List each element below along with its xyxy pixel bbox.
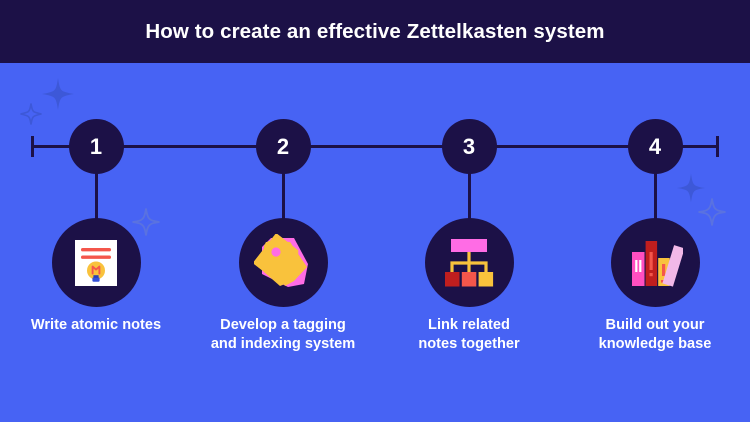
step-2-connector xyxy=(282,168,285,224)
step-4-caption-line-1: Build out your xyxy=(550,316,750,335)
sparkle-star-right-icon xyxy=(697,197,727,227)
step-1-number: 1 xyxy=(90,136,102,158)
sparkle-cross-right-icon xyxy=(675,172,707,204)
hierarchy-chart-icon xyxy=(441,236,497,290)
step-3-icon-circle[interactable] xyxy=(425,218,514,307)
step-3-number: 3 xyxy=(463,136,475,158)
infographic-canvas: How to create an effective Zettelkasten … xyxy=(0,0,750,422)
step-2-number: 2 xyxy=(277,136,289,158)
sparkle-cross-top-left-icon xyxy=(40,76,76,112)
step-4-caption-line-2: knowledge base xyxy=(550,335,750,354)
sparkle-outline-left-icon xyxy=(19,102,43,126)
timeline-end-cap xyxy=(716,136,719,157)
tag-icon xyxy=(254,234,312,292)
step-2-caption: Develop a tagging and indexing system xyxy=(178,316,388,355)
sparkle-star-near-step1-icon xyxy=(131,207,161,237)
step-1-icon-circle[interactable] xyxy=(52,218,141,307)
header-bar: How to create an effective Zettelkasten … xyxy=(0,0,750,63)
step-3-caption: Link related notes together xyxy=(364,316,574,355)
step-2-icon-circle[interactable] xyxy=(239,218,328,307)
step-4-number: 4 xyxy=(649,136,661,158)
step-2-caption-line-1: Develop a tagging xyxy=(178,316,388,335)
step-3-connector xyxy=(468,168,471,224)
step-4-number-circle[interactable]: 4 xyxy=(628,119,683,174)
step-3-caption-line-2: notes together xyxy=(364,335,574,354)
step-3-caption-line-1: Link related xyxy=(364,316,574,335)
step-2-caption-line-2: and indexing system xyxy=(178,335,388,354)
step-1-number-circle[interactable]: 1 xyxy=(69,119,124,174)
step-4-icon-circle[interactable] xyxy=(611,218,700,307)
step-2-number-circle[interactable]: 2 xyxy=(256,119,311,174)
step-1-caption: Write atomic notes xyxy=(0,316,201,335)
page-title: How to create an effective Zettelkasten … xyxy=(145,20,604,44)
timeline-axis xyxy=(31,145,719,148)
step-4-caption: Build out your knowledge base xyxy=(550,316,750,355)
step-4-connector xyxy=(654,168,657,224)
note-lightbulb-icon xyxy=(68,235,124,291)
timeline-start-cap xyxy=(31,136,34,157)
books-icon xyxy=(627,236,683,290)
step-1-connector xyxy=(95,168,98,224)
step-3-number-circle[interactable]: 3 xyxy=(442,119,497,174)
